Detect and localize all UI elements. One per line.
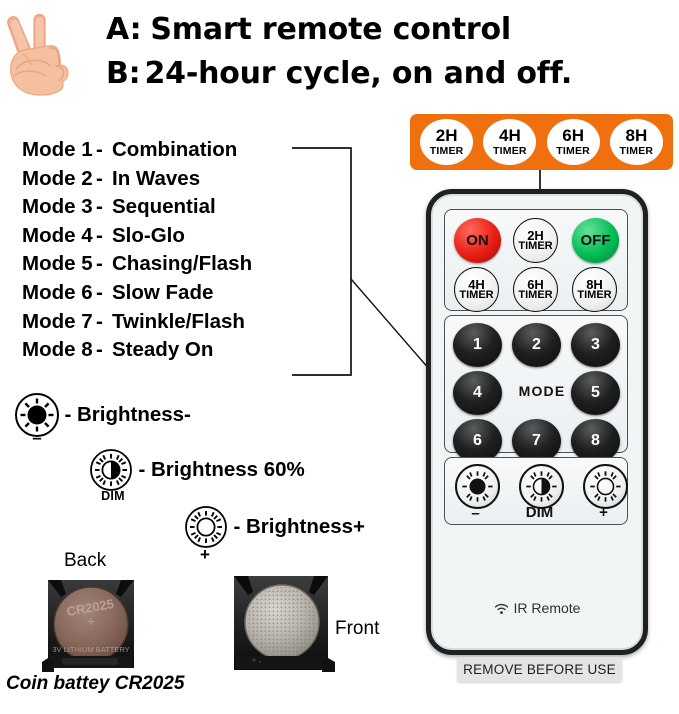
mode-item-name: Chasing/Flash — [112, 250, 252, 279]
sun-half-icon — [521, 466, 562, 507]
brightness-up-label: - Brightness+ — [233, 515, 365, 538]
timer-chip-word: TIMER — [620, 146, 654, 157]
mode-item-dash: - — [96, 193, 112, 222]
mode-item-dash: - — [96, 336, 112, 365]
sun-full-icon — [457, 466, 498, 507]
timer-chip-6h: 6H TIMER — [547, 119, 600, 165]
mode-item-dash: - — [96, 136, 112, 165]
mode-list-item: Mode 1-Combination — [22, 136, 252, 165]
mode-item-label: Mode 5 — [22, 250, 96, 279]
svg-text:+: + — [87, 613, 95, 629]
timer-chip-word: TIMER — [493, 146, 527, 157]
dim-minus-button[interactable] — [455, 464, 500, 509]
timer-8h-button[interactable]: 8H TIMER — [572, 267, 617, 312]
mode-list-item: Mode 6-Slow Fade — [22, 279, 252, 308]
ir-remote-footer: IR Remote — [431, 600, 643, 616]
off-button-label: OFF — [581, 233, 611, 248]
timer-callout-banner: 2H TIMER 4H TIMER 6H TIMER 8H TIMER — [410, 114, 673, 170]
brightness-mid-label: - Brightness 60% — [138, 458, 304, 481]
dim-mid-button[interactable] — [519, 464, 564, 509]
dim-plus-button[interactable] — [583, 464, 628, 509]
mode-item-dash: - — [96, 222, 112, 251]
mode-item-name: Slow Fade — [112, 279, 213, 308]
mode-item-label: Mode 6 — [22, 279, 96, 308]
timer-4h-word: TIMER — [459, 290, 493, 301]
mode-button-5-label: 5 — [591, 385, 600, 401]
mode-button-6-label: 6 — [473, 433, 482, 449]
mode-button-2[interactable]: 2 — [512, 323, 561, 367]
battery-front-label: Front — [335, 618, 379, 640]
on-button[interactable]: ON — [454, 218, 501, 263]
timer-chip-word: TIMER — [556, 146, 590, 157]
on-button-label: ON — [466, 233, 489, 248]
mode-button-5[interactable]: 5 — [571, 371, 620, 415]
timer-6h-button[interactable]: 6H TIMER — [513, 267, 558, 312]
ir-remote-label: IR Remote — [514, 600, 581, 616]
battery-holder-back-image: CR2025 + 3V LITHIUM BATTERY — [36, 572, 146, 682]
mode-button-7-label: 7 — [532, 433, 541, 449]
timer-chip-4h: 4H TIMER — [483, 119, 536, 165]
timer-chip-word: TIMER — [430, 146, 464, 157]
mode-list: Mode 1-Combination Mode 2-In Waves Mode … — [22, 136, 252, 365]
remove-before-use-label: REMOVE BEFORE USE — [463, 662, 616, 677]
battery-back-label: Back — [64, 550, 106, 572]
timer-4h-button[interactable]: 4H TIMER — [454, 267, 499, 312]
mode-button-3[interactable]: 3 — [571, 323, 620, 367]
mode-item-name: Combination — [112, 136, 237, 165]
mode-list-item: Mode 4-Slo-Glo — [22, 222, 252, 251]
mode-item-label: Mode 3 — [22, 193, 96, 222]
mode-list-item: Mode 3-Sequential — [22, 193, 252, 222]
wifi-icon — [494, 603, 509, 615]
timer-8h-word: TIMER — [577, 290, 611, 301]
dim-plus-label: + — [583, 504, 624, 521]
brightness-up-row: - Brightness+ — [183, 504, 365, 550]
sun-empty-icon — [585, 466, 626, 507]
svg-text:3V LITHIUM BATTERY: 3V LITHIUM BATTERY — [52, 645, 129, 654]
remove-before-use-tab[interactable]: REMOVE BEFORE USE — [457, 657, 622, 682]
mode-item-label: Mode 4 — [22, 222, 96, 251]
mode-list-bracket — [292, 148, 351, 375]
header: A:Smart remote control B:24-hour cycle, … — [0, 0, 679, 108]
brightness-down-label: - Brightness- — [64, 403, 190, 426]
mode-list-item: Mode 8-Steady On — [22, 336, 252, 365]
mode-button-4-label: 4 — [473, 385, 482, 401]
mode-item-name: In Waves — [112, 165, 200, 194]
header-line-b-key: B: — [106, 52, 140, 96]
mode-list-item: Mode 2-In Waves — [22, 165, 252, 194]
victory-hand-emoji — [4, 6, 76, 102]
timer-chip-2h: 2H TIMER — [420, 119, 473, 165]
brightness-mid-row: - Brightness 60% — [88, 447, 305, 493]
mode-panel-title: MODE — [502, 383, 582, 399]
brightness-down-sign: – — [22, 428, 52, 448]
mode-item-name: Steady On — [112, 336, 213, 365]
mode-list-item: Mode 5-Chasing/Flash — [22, 250, 252, 279]
dim-panel-title: DIM — [511, 504, 568, 521]
mode-item-dash: - — [96, 308, 112, 337]
timer-chip-hours: 8H — [626, 127, 648, 144]
mode-list-item: Mode 7-Twinkle/Flash — [22, 308, 252, 337]
sun-half-icon — [88, 447, 134, 493]
timer-chip-hours: 2H — [436, 127, 458, 144]
mode-button-1[interactable]: 1 — [453, 323, 502, 367]
timer-chip-hours: 6H — [562, 127, 584, 144]
mode-item-dash: - — [96, 279, 112, 308]
dim-minus-label: – — [455, 505, 496, 522]
header-text-block: A:Smart remote control B:24-hour cycle, … — [106, 8, 572, 96]
mode-item-dash: - — [96, 250, 112, 279]
mode-button-4[interactable]: 4 — [453, 371, 502, 415]
mode-button-1-label: 1 — [473, 337, 482, 353]
mode-item-name: Sequential — [112, 193, 216, 222]
timer-6h-word: TIMER — [518, 290, 552, 301]
timer-2h-button[interactable]: 2H TIMER — [513, 218, 558, 263]
sun-empty-icon — [183, 504, 229, 550]
mode-item-label: Mode 2 — [22, 165, 96, 194]
header-line-a-text: Smart remote control — [150, 12, 511, 47]
mode-button-2-label: 2 — [532, 337, 541, 353]
battery-holder-front-image — [224, 570, 340, 682]
brightness-mid-sign: DIM — [93, 489, 133, 503]
mode-item-label: Mode 8 — [22, 336, 96, 365]
mode-item-label: Mode 1 — [22, 136, 96, 165]
header-line-b-text: 24-hour cycle, on and off. — [144, 56, 572, 91]
off-button[interactable]: OFF — [572, 218, 619, 263]
timer-chip-hours: 4H — [499, 127, 521, 144]
header-line-b: B:24-hour cycle, on and off. — [106, 52, 572, 96]
timer-2h-word: TIMER — [518, 241, 552, 252]
mode-item-label: Mode 7 — [22, 308, 96, 337]
mode-item-dash: - — [96, 165, 112, 194]
header-line-a: A:Smart remote control — [106, 8, 572, 52]
header-line-a-key: A: — [106, 8, 141, 52]
brightness-up-sign: + — [190, 545, 220, 565]
timer-chip-8h: 8H TIMER — [610, 119, 663, 165]
remote-control: ON 2H TIMER OFF 4H TIMER 6H TIMER 8H TIM… — [426, 189, 648, 655]
mode-item-name: Twinkle/Flash — [112, 308, 245, 337]
mode-button-8-label: 8 — [591, 433, 600, 449]
mode-button-3-label: 3 — [591, 337, 600, 353]
mode-item-name: Slo-Glo — [112, 222, 185, 251]
coin-battery-caption: Coin battey CR2025 — [6, 673, 184, 695]
